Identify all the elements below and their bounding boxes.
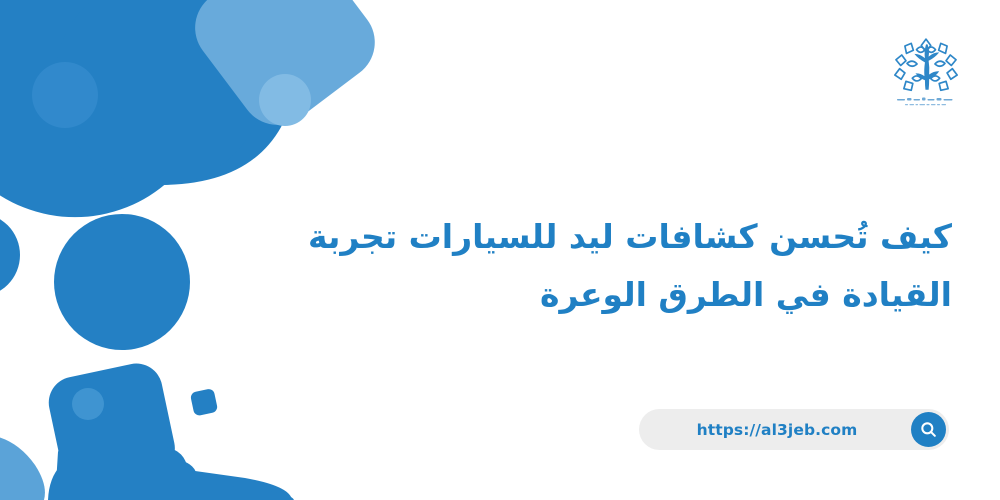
top-light-inner-circle <box>259 74 311 126</box>
bottom-large-blob-2 <box>48 452 294 500</box>
site-logo[interactable] <box>880 36 972 122</box>
bottom-left-light-shape <box>0 434 45 500</box>
bottom-small-square <box>190 388 218 416</box>
page-title: كيف تُحسن كشافات ليد للسيارات تجربة القي… <box>252 208 952 324</box>
top-left-inner-circle <box>32 62 98 128</box>
top-left-blob-round <box>55 0 265 185</box>
top-light-rounded-square <box>180 0 390 140</box>
banner-canvas: كيف تُحسن كشافات ليد للسيارات تجربة القي… <box>0 0 1000 500</box>
bottom-large-blob <box>55 437 292 500</box>
url-bar[interactable]: https://al3jeb.com <box>639 409 949 450</box>
top-left-blob <box>0 0 300 217</box>
logo-wordmark <box>895 96 957 110</box>
bottom-rounded-square <box>44 359 180 492</box>
page-title-line-2: القيادة في الطرق الوعرة <box>252 266 952 324</box>
page-title-line-1: كيف تُحسن كشافات ليد للسيارات تجربة <box>252 208 952 266</box>
search-icon <box>919 420 938 439</box>
mid-left-circle <box>54 214 190 350</box>
url-text: https://al3jeb.com <box>697 421 858 439</box>
top-left-blob-fill <box>0 0 300 185</box>
bottom-inner-circle <box>72 388 104 420</box>
search-button[interactable] <box>911 412 946 447</box>
tree-emblem-icon <box>894 36 958 94</box>
left-edge-circle <box>0 213 20 297</box>
